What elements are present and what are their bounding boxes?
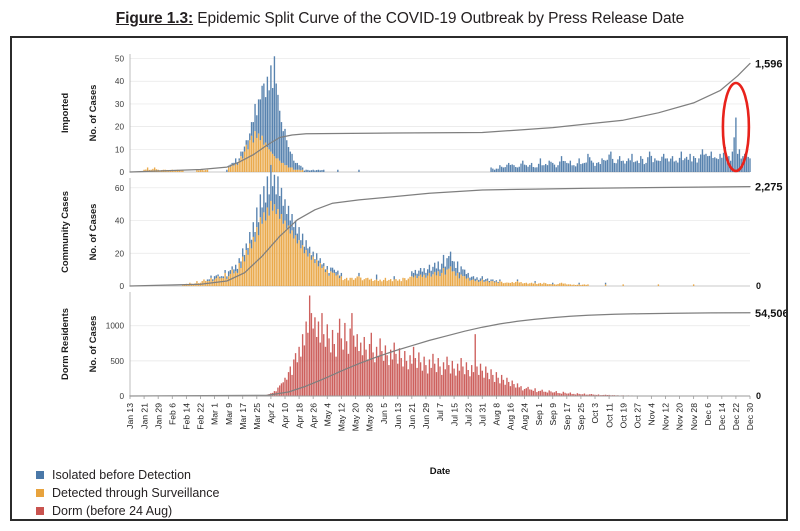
bar <box>559 283 560 286</box>
bar <box>198 170 199 172</box>
bar <box>267 77 268 147</box>
bar <box>260 140 261 172</box>
bar <box>446 258 447 269</box>
bar <box>379 338 380 396</box>
bar <box>524 283 525 286</box>
x-tick-label: Feb 22 <box>196 403 206 430</box>
bar <box>527 387 528 396</box>
legend-swatch-dorm-icon <box>36 507 44 515</box>
bar <box>321 268 322 286</box>
bar <box>230 167 231 172</box>
bar <box>432 267 433 275</box>
bar <box>235 158 236 163</box>
bar <box>564 161 565 172</box>
bar <box>402 366 403 396</box>
bar <box>577 163 578 172</box>
bar <box>659 161 660 172</box>
bar <box>490 279 491 281</box>
bar <box>469 281 470 286</box>
bar <box>311 260 312 286</box>
chart-legend: Isolated before Detection Detected throu… <box>36 466 219 520</box>
bar <box>279 385 280 396</box>
bar <box>242 257 243 286</box>
bar <box>316 337 317 396</box>
bar <box>293 239 294 286</box>
bar <box>684 158 685 172</box>
bar <box>712 158 713 172</box>
bar <box>330 352 331 396</box>
bar <box>239 158 240 160</box>
bar <box>325 347 326 396</box>
bar <box>519 167 520 172</box>
bar <box>570 284 571 286</box>
bar <box>295 221 296 236</box>
bar <box>547 165 548 172</box>
bar <box>651 156 652 172</box>
bar <box>240 268 241 286</box>
bar <box>675 161 676 172</box>
bar <box>468 278 469 286</box>
bar <box>281 383 282 396</box>
bar <box>480 278 481 281</box>
bar <box>328 338 329 396</box>
bar <box>508 382 509 396</box>
bar <box>320 170 321 172</box>
bar <box>580 164 581 172</box>
bar <box>313 170 314 172</box>
x-tick-label: Apr 26 <box>308 403 318 429</box>
bar <box>374 280 375 286</box>
bar <box>300 240 301 248</box>
bar <box>247 248 248 255</box>
bar <box>305 322 306 396</box>
y-axis-title: No. of Cases <box>87 316 98 373</box>
bar <box>309 296 310 396</box>
bar <box>314 259 315 263</box>
bar <box>563 392 564 396</box>
bar <box>415 276 416 286</box>
bar <box>534 283 535 286</box>
bar <box>647 157 648 172</box>
bar <box>337 333 338 396</box>
bar <box>311 170 312 172</box>
bar <box>571 165 572 172</box>
x-tick-label: Apr 18 <box>294 403 304 429</box>
bar <box>309 171 310 172</box>
bar <box>624 164 625 172</box>
bar <box>237 269 238 273</box>
legend-swatch-isolated-icon <box>36 471 44 479</box>
bar <box>411 276 412 286</box>
cumulative-total-label-3: 54,506 <box>755 308 786 320</box>
bar <box>614 163 615 172</box>
bar <box>304 253 305 286</box>
bar <box>374 362 375 396</box>
bar <box>566 163 567 172</box>
bar <box>482 371 483 396</box>
bar <box>298 227 299 240</box>
bar <box>420 268 421 275</box>
cumulative-curve-line <box>130 63 750 172</box>
bar <box>594 166 595 172</box>
bar <box>386 355 387 396</box>
bar <box>327 266 328 270</box>
bar <box>295 163 296 170</box>
bar <box>390 279 391 286</box>
bar <box>519 387 520 396</box>
bar <box>249 133 250 140</box>
figure-title-text: Epidemic Split Curve of the COVID-19 Out… <box>193 10 684 27</box>
bar <box>605 284 606 286</box>
bar <box>564 393 565 396</box>
bar <box>401 281 402 286</box>
bar <box>649 152 650 172</box>
bar <box>291 230 292 286</box>
bar <box>460 358 461 396</box>
bar <box>460 275 461 286</box>
bar <box>533 167 534 172</box>
bar <box>520 386 521 396</box>
bar <box>314 263 315 286</box>
bar <box>621 161 622 172</box>
bar <box>272 186 273 211</box>
bar <box>633 162 634 172</box>
panel-title-2: Community Cases <box>59 191 70 273</box>
bar <box>587 154 588 172</box>
bar <box>517 167 518 172</box>
bar <box>686 157 687 172</box>
bar <box>203 170 204 172</box>
bar <box>534 167 535 172</box>
bar <box>476 366 477 396</box>
bar <box>422 371 423 396</box>
bar <box>283 131 284 163</box>
x-tick-label: Sep 9 <box>548 403 558 426</box>
bar <box>281 163 282 172</box>
bar <box>453 261 454 271</box>
bar <box>707 156 708 172</box>
x-tick-label: Jun 13 <box>393 403 403 429</box>
bar <box>501 167 502 172</box>
bar <box>494 170 495 172</box>
bar <box>293 161 294 170</box>
bar <box>318 266 319 286</box>
bar <box>485 279 486 281</box>
bar <box>749 158 750 172</box>
x-tick-label: Dec 14 <box>717 403 727 430</box>
y-axis-title: No. of Cases <box>87 204 98 261</box>
x-tick-label: Jun 21 <box>407 403 417 429</box>
bar <box>601 158 602 172</box>
x-tick-label: Apr 10 <box>280 403 290 429</box>
bar <box>358 276 359 286</box>
bar <box>320 343 321 396</box>
bar <box>543 283 544 286</box>
bar <box>423 268 424 275</box>
bar <box>536 167 537 172</box>
legend-label-surveillance: Detected through Surveillance <box>52 486 219 500</box>
bar <box>386 281 387 286</box>
bar <box>550 162 551 172</box>
bar <box>452 271 453 286</box>
bar <box>515 282 516 286</box>
bar <box>550 284 551 286</box>
x-tick-label: Jul 7 <box>435 403 445 421</box>
bar <box>339 276 340 279</box>
bar <box>268 216 269 286</box>
bar <box>328 276 329 286</box>
bar <box>441 375 442 396</box>
bar <box>341 338 342 396</box>
bar <box>526 165 527 172</box>
bar <box>284 129 285 165</box>
bar <box>272 211 273 286</box>
bar <box>527 167 528 172</box>
bar <box>385 345 386 396</box>
bar <box>513 283 514 286</box>
bar <box>378 357 379 396</box>
bar <box>313 329 314 396</box>
bar <box>228 271 229 276</box>
bar <box>540 158 541 172</box>
bar <box>691 161 692 172</box>
bar <box>453 369 454 396</box>
bar <box>702 149 703 172</box>
bar <box>337 275 338 286</box>
bar <box>656 160 657 172</box>
bar <box>210 278 211 286</box>
bar <box>496 280 497 281</box>
bar <box>263 212 264 286</box>
x-axis-title: Date <box>430 466 451 477</box>
bar <box>256 207 257 227</box>
bar <box>422 277 423 286</box>
bar <box>335 272 336 276</box>
bar <box>489 281 490 282</box>
bar <box>510 165 511 172</box>
bar <box>272 154 273 172</box>
x-tick-label: Jan 21 <box>139 403 149 429</box>
legend-label-dorm: Dorm (before 24 Aug) <box>52 504 172 518</box>
bar <box>212 279 213 281</box>
bar <box>455 276 456 286</box>
bar <box>358 170 359 172</box>
end-zero-label-3: 0 <box>756 391 761 401</box>
bar <box>323 170 324 172</box>
epidemic-split-curve-chart: 01020304050No. of CasesImported1,5960204… <box>12 38 786 519</box>
x-tick-label: Sep 25 <box>576 403 586 430</box>
bar <box>584 163 585 172</box>
bar <box>242 248 243 256</box>
bar <box>261 207 262 223</box>
bar <box>344 279 345 286</box>
bar <box>328 273 329 276</box>
bar-series-group <box>143 56 750 172</box>
bar <box>253 143 254 173</box>
bar <box>526 283 527 286</box>
bar <box>219 277 220 279</box>
bar <box>436 372 437 396</box>
bar <box>552 163 553 172</box>
bar <box>489 379 490 396</box>
x-tick-label: Mar 1 <box>210 403 220 425</box>
bar <box>513 165 514 172</box>
bar <box>519 282 520 286</box>
bar <box>711 152 712 172</box>
bar <box>283 382 284 396</box>
bar <box>468 370 469 396</box>
bar <box>223 276 224 278</box>
bar <box>637 161 638 172</box>
bar <box>268 149 269 172</box>
bar <box>615 163 616 172</box>
bar <box>533 284 534 286</box>
bar <box>439 269 440 276</box>
bar <box>237 165 238 172</box>
bar <box>557 284 558 286</box>
bar <box>399 279 400 286</box>
bar <box>552 283 553 285</box>
bar <box>443 362 444 396</box>
bar <box>487 281 488 286</box>
bar <box>605 161 606 172</box>
bar <box>376 347 377 396</box>
bar <box>443 268 444 286</box>
panel-title-3: Dorm Residents <box>59 308 70 380</box>
bar <box>235 265 236 272</box>
bar <box>438 261 439 271</box>
bar <box>397 281 398 286</box>
bar <box>207 170 208 172</box>
bar <box>276 214 277 286</box>
bar <box>429 273 430 286</box>
bar <box>564 283 565 286</box>
figure-number: Figure 1.3: <box>116 10 193 27</box>
x-tick-label: Mar 25 <box>252 403 262 430</box>
legend-label-isolated: Isolated before Detection <box>52 468 191 482</box>
bar <box>552 392 553 396</box>
bar <box>416 278 417 286</box>
bar <box>623 161 624 172</box>
bar <box>438 271 439 286</box>
bar <box>556 391 557 396</box>
bar <box>561 156 562 172</box>
bar <box>522 390 523 396</box>
bar <box>330 268 331 272</box>
bar <box>466 274 467 279</box>
bar <box>318 170 319 172</box>
bar <box>327 324 328 396</box>
bar <box>446 270 447 286</box>
bar <box>434 364 435 396</box>
bar <box>302 245 303 286</box>
bar <box>718 159 719 172</box>
bar <box>279 111 280 161</box>
bar <box>490 281 491 286</box>
bar <box>307 257 308 286</box>
bar <box>499 281 500 286</box>
bar <box>276 84 277 159</box>
bar <box>371 279 372 286</box>
bar <box>325 269 326 272</box>
bar <box>693 156 694 172</box>
bar <box>438 358 439 396</box>
bar <box>249 243 250 286</box>
bar <box>226 279 227 286</box>
bar <box>355 347 356 396</box>
bar <box>536 284 537 286</box>
bar <box>661 157 662 172</box>
bar <box>224 270 225 273</box>
bar <box>450 266 451 286</box>
bar <box>316 170 317 172</box>
bar <box>392 281 393 286</box>
bar <box>561 283 562 286</box>
bar <box>267 207 268 286</box>
bar <box>291 154 292 168</box>
bar <box>406 280 407 286</box>
bar <box>540 283 541 286</box>
bar <box>549 161 550 172</box>
bar <box>348 354 349 396</box>
bar <box>291 375 292 396</box>
bar <box>284 378 285 396</box>
bar <box>254 131 255 172</box>
bar <box>482 279 483 286</box>
bar <box>267 147 268 172</box>
bar <box>249 232 250 243</box>
bar <box>418 276 419 286</box>
bar <box>466 362 467 396</box>
x-tick-label: Feb 6 <box>167 403 177 425</box>
bar <box>538 391 539 396</box>
bar <box>425 365 426 396</box>
x-tick-label: May 4 <box>322 403 332 427</box>
bar <box>510 283 511 286</box>
bar <box>274 156 275 172</box>
bar <box>464 276 465 286</box>
bar <box>367 359 368 396</box>
bar <box>365 278 366 286</box>
bar <box>263 186 264 212</box>
bar <box>473 276 474 279</box>
bar <box>704 155 705 172</box>
x-tick-label: May 12 <box>337 403 347 431</box>
bar <box>394 279 395 286</box>
bar <box>534 281 535 283</box>
y-tick-label: 0 <box>119 392 124 401</box>
bar <box>279 161 280 172</box>
bar <box>233 269 234 273</box>
bar <box>431 368 432 396</box>
bar <box>679 158 680 172</box>
bar <box>441 264 442 273</box>
bar <box>265 203 266 221</box>
bar <box>522 283 523 286</box>
bar <box>721 158 722 172</box>
bar <box>543 165 544 172</box>
bar <box>716 158 717 172</box>
bar <box>342 350 343 396</box>
bar <box>420 275 421 286</box>
bar <box>295 170 296 172</box>
bar <box>371 333 372 396</box>
bar <box>526 388 527 396</box>
bar <box>364 337 365 396</box>
bar <box>409 355 410 396</box>
bar <box>297 170 298 172</box>
x-axis: Jan 13Jan 21Jan 29Feb 6Feb 14Feb 22Mar 1… <box>125 396 755 431</box>
